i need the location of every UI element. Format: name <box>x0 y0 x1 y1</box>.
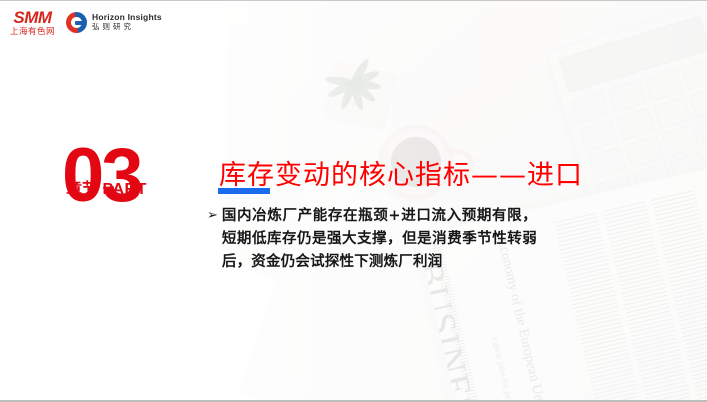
logo-bar: SMM 上海有色网 Horizon Insights 弘则研究 <box>10 9 162 36</box>
smm-logo-mark: SMM <box>10 9 55 26</box>
bullet-list-item: ➢ 国内冶炼厂产能存在瓶颈+进口流入预期有限，短期低库存仍是强大支撑，但是消费季… <box>207 204 537 273</box>
presentation-slide: BUSINESS Economy of the European Union s… <box>0 0 707 402</box>
horizon-logo-text: Horizon Insights 弘则研究 <box>92 13 162 31</box>
horizon-swirl-icon <box>66 12 87 33</box>
smm-logo-icon: SMM 上海有色网 <box>10 9 55 36</box>
section-label: 章节 PART <box>66 175 147 199</box>
section-label-cn: 章节 <box>66 181 98 198</box>
page-title: 库存变动的核心指标——进口 <box>219 153 583 192</box>
smm-logo-cn-name: 上海有色网 <box>10 27 55 36</box>
horizon-logo-cn-name: 弘则研究 <box>92 23 162 32</box>
title-underline-rule <box>218 188 270 194</box>
section-label-en: PART <box>102 181 146 198</box>
horizon-insights-logo-icon: Horizon Insights 弘则研究 <box>66 12 162 33</box>
section-marker: 03 章节 PART <box>62 139 192 213</box>
bullet-arrow-icon: ➢ <box>207 204 218 273</box>
bullet-body-text: 国内冶炼厂产能存在瓶颈+进口流入预期有限，短期低库存仍是强大支撑，但是消费季节性… <box>222 204 537 273</box>
